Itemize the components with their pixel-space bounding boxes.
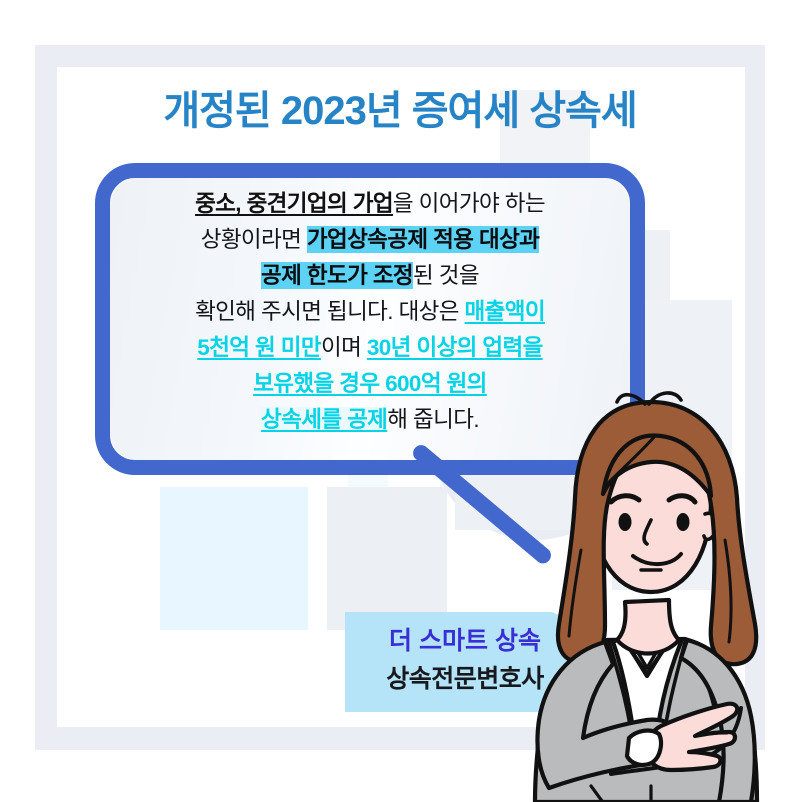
bubble-segment: 매출액이 — [465, 299, 545, 324]
bubble-line-4: 확인해 주시면 됩니다. 대상은 매출액이 — [110, 294, 630, 330]
page-title: 개정된 2023년 증여세 상속세 — [0, 78, 800, 136]
bubble-segment: 30년 이상의 업력을 — [367, 335, 543, 360]
bubble-segment: 보유했을 경우 600억 원의 — [253, 371, 487, 396]
bubble-line-3: 공제 한도가 조정된 것을 — [110, 258, 630, 294]
bubble-segment: 가업상속공제 적용 대상과 — [307, 226, 539, 253]
infographic-canvas: 개정된 2023년 증여세 상속세 중소, 중견기업의 가업을 이어가야 하는상… — [0, 0, 800, 800]
bg-decor-cyan-block — [160, 487, 308, 630]
bubble-segment: 공제 한도가 조정 — [261, 262, 413, 289]
bubble-segment: 된 것을 — [413, 263, 479, 288]
bubble-segment: 이며 — [321, 335, 367, 360]
bubble-segment: 중소, 중견기업의 가업 — [195, 191, 393, 216]
bubble-segment: 상속세를 공제 — [261, 407, 387, 432]
bg-decor-gray-block — [327, 487, 447, 630]
bubble-segment: 상황이라면 — [201, 227, 307, 252]
bubble-line-5: 5천억 원 미만이며 30년 이상의 업력을 — [110, 330, 630, 366]
bubble-segment: 해 줍니다. — [387, 407, 479, 432]
bubble-segment: 5천억 원 미만 — [197, 335, 321, 360]
bubble-segment: 을 이어가야 하는 — [393, 191, 545, 216]
lawyer-illustration — [505, 390, 800, 802]
bubble-segment: 확인해 주시면 됩니다. 대상은 — [195, 299, 464, 324]
bubble-line-2: 상황이라면 가업상속공제 적용 대상과 — [110, 222, 630, 258]
bubble-line-1: 중소, 중견기업의 가업을 이어가야 하는 — [110, 186, 630, 222]
